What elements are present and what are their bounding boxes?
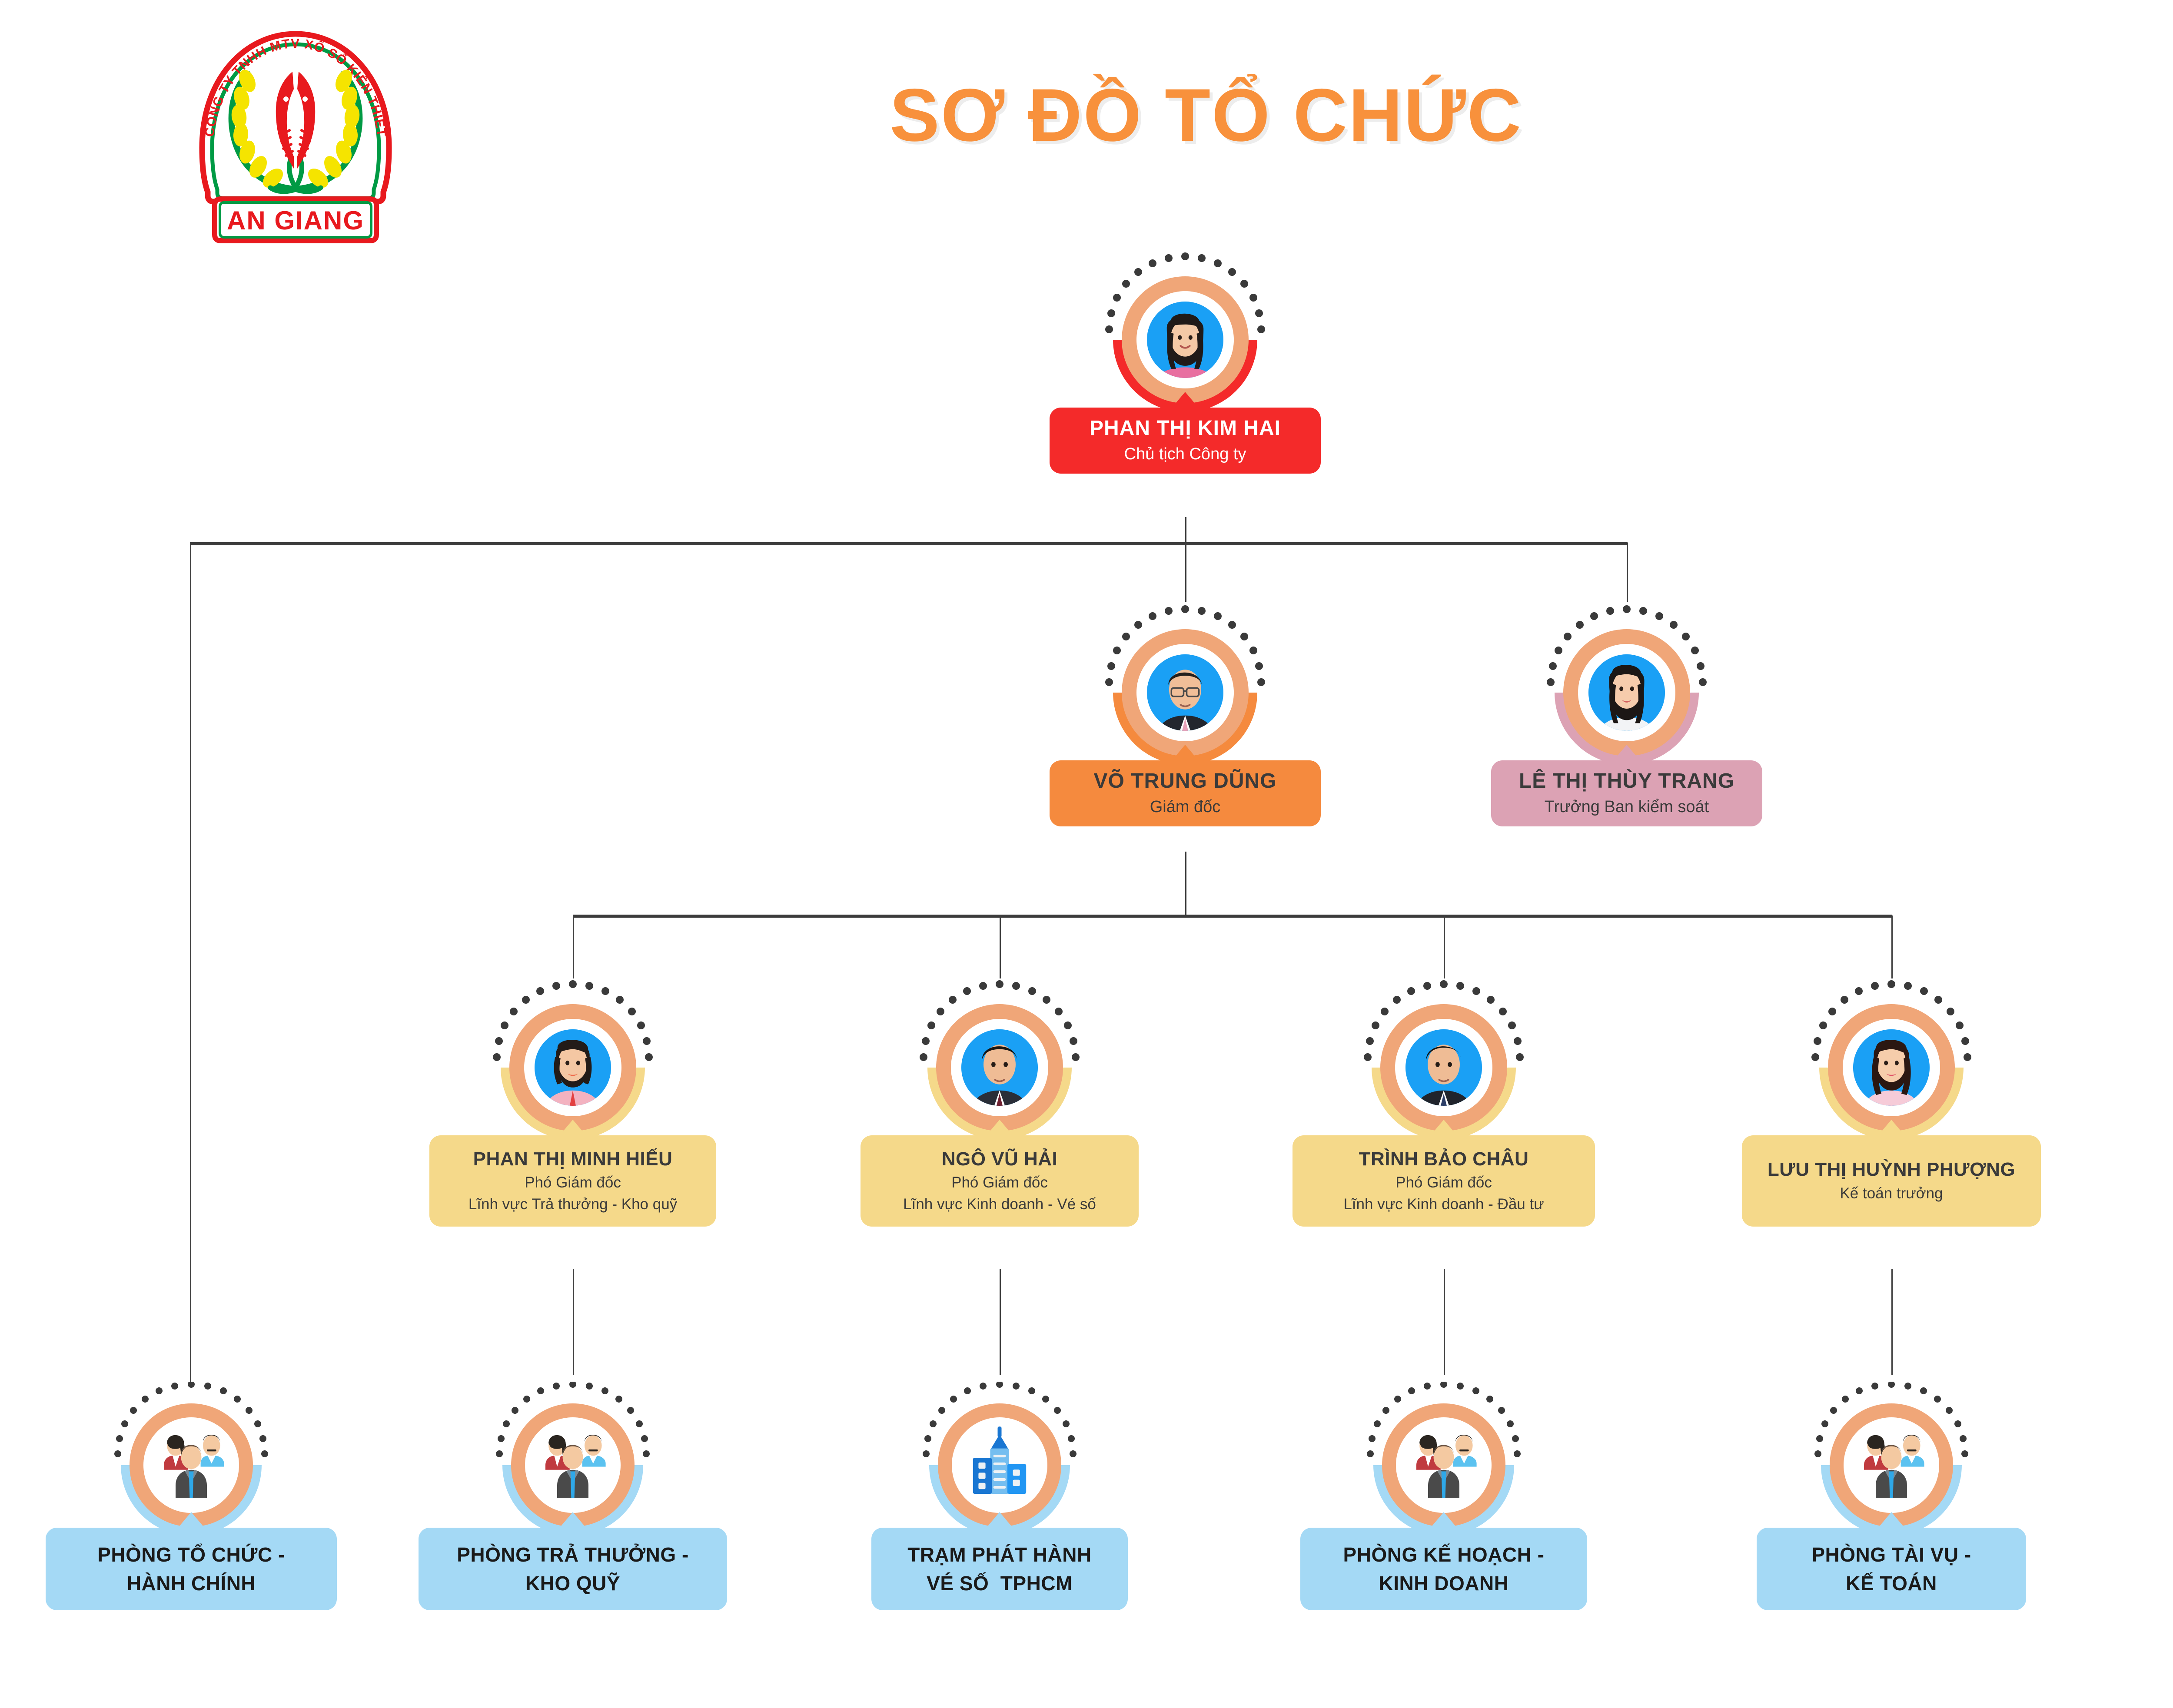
deputy4-avatar	[1809, 980, 1974, 1123]
deputy2-avatar	[917, 980, 1082, 1123]
dept2-avatar	[490, 1382, 655, 1512]
dept3-name-line2: VÉ SỐ TPHCM	[927, 1572, 1073, 1595]
deputy2-photo	[961, 1029, 1038, 1106]
director-photo	[1147, 654, 1223, 731]
supervisor-avatar	[1544, 605, 1709, 748]
deputy1-label[interactable]: PHAN THỊ MINH HIẾU Phó Giám đốc Lĩnh vực…	[429, 1135, 716, 1227]
dept5-avatar	[1809, 1382, 1974, 1512]
dept5-label[interactable]: PHÒNG TÀI VỤ - KẾ TOÁN	[1757, 1528, 2026, 1610]
deputy4-photo	[1853, 1029, 1930, 1106]
dept5-name-line1: PHÒNG TÀI VỤ -	[1811, 1543, 1971, 1566]
dept2-name-line2: KHO QUỸ	[525, 1572, 620, 1595]
deputy3-label[interactable]: TRÌNH BẢO CHÂU Phó Giám đốc Lĩnh vực Kin…	[1293, 1135, 1595, 1227]
dept5-label-tip	[1877, 1512, 1905, 1529]
org-chart-canvas: CÔNG TY TNHH MTV XỔ SỐ KIẾN THIẾT	[0, 0, 2173, 1708]
deputy3-avatar	[1361, 980, 1526, 1123]
connector-level3-bus	[573, 915, 1892, 918]
supervisor-photo	[1588, 654, 1665, 731]
connector-chairman-stem	[1185, 517, 1186, 543]
dept3-label-tip	[986, 1512, 1013, 1529]
group-people-icon	[1405, 1426, 1483, 1504]
page-title: SƠ ĐỒ TỔ CHỨC	[826, 76, 1586, 155]
director-role: Giám đốc	[1150, 796, 1221, 818]
chairman-avatar	[1103, 252, 1268, 395]
dept4-name-line1: PHÒNG KẾ HOẠCH -	[1343, 1543, 1545, 1566]
dept1-label[interactable]: PHÒNG TỔ CHỨC - HÀNH CHÍNH	[46, 1528, 337, 1610]
dept2-name-line1: PHÒNG TRẢ THƯỞNG -	[457, 1543, 689, 1566]
connector-deputy3-to-dept4	[1444, 1269, 1445, 1375]
deputy2-scope: Lĩnh vực Kinh doanh - Vé số	[903, 1194, 1096, 1214]
building-icon	[960, 1423, 1039, 1502]
deputy4-label-tip	[1877, 1120, 1905, 1136]
deputy2-label-tip	[986, 1120, 1013, 1136]
deputy1-role: Phó Giám đốc	[525, 1173, 621, 1193]
dept1-name-line2: HÀNH CHÍNH	[127, 1572, 256, 1595]
chairman-photo	[1147, 302, 1223, 378]
dept4-label[interactable]: PHÒNG KẾ HOẠCH - KINH DOANH	[1300, 1528, 1587, 1610]
deputy1-name: PHAN THỊ MINH HIẾU	[473, 1148, 673, 1171]
deputy2-role: Phó Giám đốc	[951, 1173, 1048, 1193]
deputy3-photo	[1405, 1029, 1482, 1106]
deputy4-label[interactable]: LƯU THỊ HUỲNH PHƯỢNG Kế toán trưởng	[1742, 1135, 2041, 1227]
deputy3-role: Phó Giám đốc	[1396, 1173, 1492, 1193]
group-people-icon	[1852, 1426, 1930, 1504]
supervisor-role: Trưởng Ban kiểm soát	[1545, 796, 1709, 818]
dept3-label[interactable]: TRẠM PHÁT HÀNH VÉ SỐ TPHCM	[871, 1528, 1128, 1610]
connector-director-stem	[1185, 852, 1186, 916]
dept1-name-line1: PHÒNG TỔ CHỨC -	[97, 1543, 285, 1566]
connector-deputy1-to-dept2	[573, 1269, 574, 1375]
deputy1-scope: Lĩnh vực Trả thưởng - Kho quỹ	[468, 1194, 677, 1214]
connector-to-director	[1185, 543, 1186, 602]
dept2-label-tip	[559, 1512, 587, 1529]
dept3-name-line1: TRẠM PHÁT HÀNH	[907, 1543, 1092, 1566]
chairman-role: Chủ tịch Công ty	[1124, 444, 1246, 465]
chairman-label-tip	[1171, 392, 1199, 408]
deputy3-label-tip	[1430, 1120, 1458, 1136]
chairman-name: PHAN THỊ KIM HAI	[1090, 416, 1281, 441]
dept3-avatar	[917, 1382, 1082, 1512]
dept1-avatar	[109, 1382, 274, 1512]
dept1-label-tip	[177, 1512, 205, 1529]
supervisor-label-tip	[1613, 745, 1641, 761]
group-people-icon	[534, 1426, 612, 1504]
supervisor-name: LÊ THỊ THÙY TRANG	[1519, 769, 1734, 794]
connector-to-deputy1	[573, 915, 574, 978]
deputy3-scope: Lĩnh vực Kinh doanh - Đầu tư	[1343, 1194, 1544, 1214]
dept2-label[interactable]: PHÒNG TRẢ THƯỞNG - KHO QUỸ	[419, 1528, 727, 1610]
connector-level2-bus	[190, 542, 1628, 545]
dept4-label-tip	[1430, 1512, 1458, 1529]
director-name: VÕ TRUNG DŨNG	[1094, 769, 1277, 794]
director-avatar	[1103, 605, 1268, 748]
dept5-name-line2: KẾ TOÁN	[1846, 1572, 1937, 1595]
connector-to-supervisor	[1627, 543, 1628, 602]
deputy1-label-tip	[559, 1120, 587, 1136]
director-label[interactable]: VÕ TRUNG DŨNG Giám đốc	[1050, 760, 1321, 826]
connector-deputy2-to-dept3	[1000, 1269, 1001, 1375]
company-logo: CÔNG TY TNHH MTV XỔ SỐ KIẾN THIẾT	[187, 26, 404, 256]
connector-to-deputy2	[1000, 915, 1001, 978]
connector-to-deputy3	[1444, 915, 1445, 978]
dept4-name-line2: KINH DOANH	[1379, 1572, 1509, 1595]
deputy2-name: NGÔ VŨ HẢI	[942, 1148, 1058, 1171]
deputy4-role: Kế toán trưởng	[1840, 1184, 1943, 1204]
group-people-icon	[152, 1426, 230, 1504]
deputy1-photo	[535, 1029, 611, 1106]
deputy2-label[interactable]: NGÔ VŨ HẢI Phó Giám đốc Lĩnh vực Kinh do…	[861, 1135, 1139, 1227]
deputy4-name: LƯU THỊ HUỲNH PHƯỢNG	[1768, 1158, 2015, 1181]
connector-deputy4-to-dept5	[1891, 1269, 1893, 1375]
connector-to-dept1	[190, 543, 191, 1386]
chairman-label[interactable]: PHAN THỊ KIM HAI Chủ tịch Công ty	[1050, 408, 1321, 474]
director-label-tip	[1171, 745, 1199, 761]
deputy3-name: TRÌNH BẢO CHÂU	[1359, 1148, 1529, 1171]
deputy1-avatar	[490, 980, 655, 1123]
svg-text:AN GIANG: AN GIANG	[227, 206, 364, 235]
connector-to-deputy4	[1891, 915, 1893, 978]
dept4-avatar	[1361, 1382, 1526, 1512]
supervisor-label[interactable]: LÊ THỊ THÙY TRANG Trưởng Ban kiểm soát	[1491, 760, 1762, 826]
